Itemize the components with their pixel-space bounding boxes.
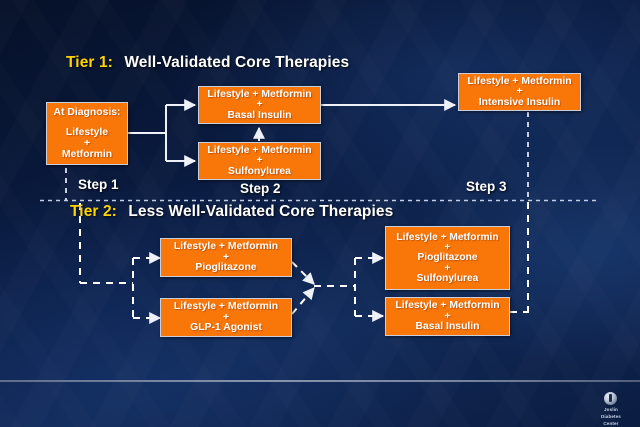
box-pioglitazone[interactable]: Lifestyle + Metformin + Pioglitazone (160, 238, 292, 277)
box-pio-sulf-line2: Pioglitazone (418, 252, 478, 263)
box-glp1-agonist[interactable]: Lifestyle + Metformin + GLP-1 Agonist (160, 298, 292, 337)
slide-canvas: Tier 1: Well-Validated Core Therapies At… (0, 0, 640, 427)
box-pioglitazone-plus: + (223, 253, 229, 263)
box-at-diagnosis-line3: Metformin (62, 149, 112, 160)
box-glp1-agonist-plus: + (223, 313, 229, 323)
logo-line-3: Center (603, 421, 618, 427)
joslin-diabetes-center-logo: Joslin Diabetes Center (601, 392, 621, 427)
tier2-title: Less Well-Validated Core Therapies (128, 203, 393, 220)
box-basal-insulin-line2: Basal Insulin (227, 110, 291, 121)
box-basal-insulin-2-line2: Basal Insulin (415, 321, 479, 332)
box-basal-insulin[interactable]: Lifestyle + Metformin + Basal Insulin (198, 86, 321, 124)
tier2-heading: Tier 2: Less Well-Validated Core Therapi… (70, 203, 393, 221)
merge-from-glp1 (292, 288, 314, 314)
box-pio-sulf-line3: Sulfonylurea (417, 273, 479, 284)
box-glp1-agonist-line2: GLP-1 Agonist (190, 322, 262, 333)
box-pioglitazone-line2: Pioglitazone (195, 262, 256, 273)
box-at-diagnosis-plus: + (84, 139, 90, 149)
box-intensive-insulin[interactable]: Lifestyle + Metformin + Intensive Insuli… (458, 73, 581, 111)
box-intensive-insulin-line2: Intensive Insulin (479, 97, 560, 108)
box-sulfonylurea-line2: Sulfonylurea (228, 166, 291, 177)
tier1-number: Tier 1: (66, 54, 113, 71)
tier2-number: Tier 2: (70, 203, 117, 220)
box-at-diagnosis-line2: Lifestyle (66, 127, 108, 138)
box-pioglitazone-line1: Lifestyle + Metformin (174, 241, 278, 252)
step-1-label: Step 1 (78, 177, 119, 192)
tier1-title: Well-Validated Core Therapies (124, 54, 349, 71)
footer-divider (0, 380, 640, 382)
box-intensive-insulin-plus: + (516, 87, 522, 97)
box-basal-insulin-2[interactable]: Lifestyle + Metformin + Basal Insulin (385, 297, 510, 336)
box-at-diagnosis-line1: At Diagnosis: (54, 107, 121, 118)
box-at-diagnosis[interactable]: At Diagnosis: Lifestyle + Metformin (46, 102, 128, 165)
box-basal-insulin-2-plus: + (444, 312, 450, 322)
box-basal-insulin-plus: + (256, 100, 262, 110)
box-pioglitazone-sulfonylurea[interactable]: Lifestyle + Metformin + Pioglitazone + S… (385, 226, 510, 290)
joslin-emblem-icon (604, 392, 617, 405)
merge-from-pioglitazone (292, 262, 314, 284)
box-sulfonylurea-plus: + (256, 156, 262, 166)
step-3-label: Step 3 (466, 179, 507, 194)
box-basal-insulin-2-line1: Lifestyle + Metformin (395, 300, 499, 311)
step-2-label: Step 2 (240, 181, 281, 196)
box-glp1-agonist-line1: Lifestyle + Metformin (174, 301, 278, 312)
tier1-heading: Tier 1: Well-Validated Core Therapies (66, 54, 349, 72)
logo-line-2: Diabetes (601, 414, 621, 421)
logo-line-1: Joslin (604, 407, 618, 414)
box-pio-sulf-plus2: + (445, 264, 451, 274)
box-sulfonylurea[interactable]: Lifestyle + Metformin + Sulfonylurea (198, 142, 321, 180)
